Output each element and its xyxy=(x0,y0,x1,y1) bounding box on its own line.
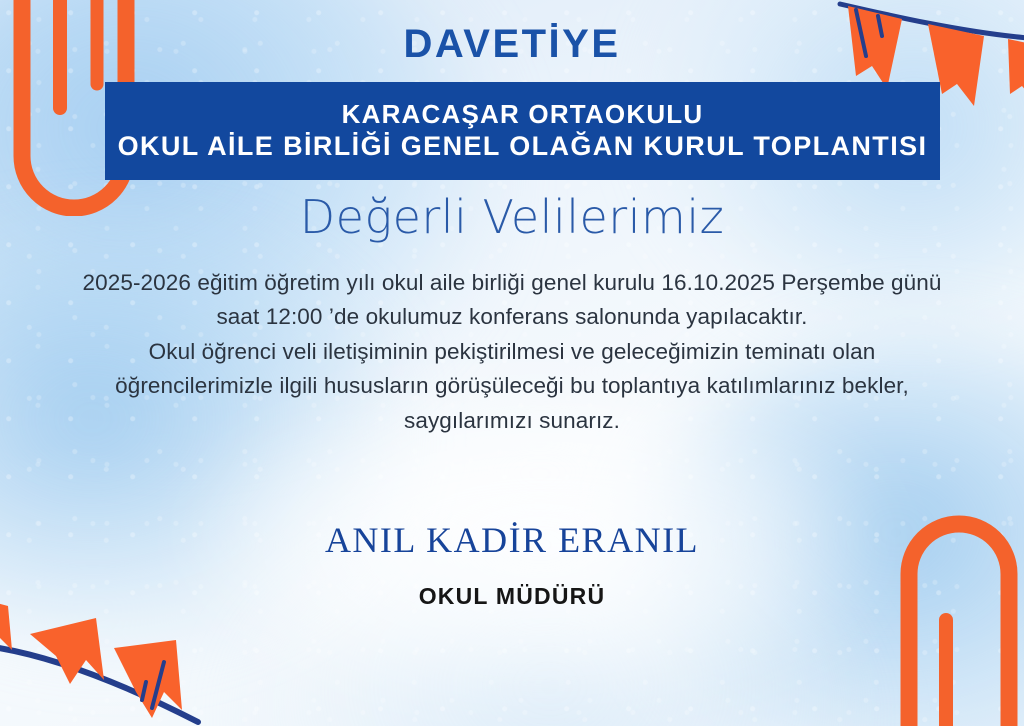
signature-name: ANIL KADİR ERANIL xyxy=(0,519,1024,561)
greeting-text: Değerli Velilerimiz xyxy=(0,190,1024,244)
body-line-3: Okul öğrenci veli iletişiminin pekiştiri… xyxy=(52,335,972,369)
header-banner: KARACAŞAR ORTAOKULU OKUL AİLE BİRLİĞİ GE… xyxy=(105,82,940,180)
body-text: 2025-2026 eğitim öğretim yılı okul aile … xyxy=(52,266,972,438)
signature-role: OKUL MÜDÜRÜ xyxy=(0,583,1024,610)
body-line-4: öğrencilerimizle ilgili hususların görüş… xyxy=(52,369,972,403)
banner-meeting-title: OKUL AİLE BİRLİĞİ GENEL OLAĞAN KURUL TOP… xyxy=(118,131,928,162)
body-line-1: 2025-2026 eğitim öğretim yılı okul aile … xyxy=(52,266,972,300)
banner-school-name: KARACAŞAR ORTAOKULU xyxy=(342,99,704,129)
invitation-card: DAVETİYE KARACAŞAR ORTAOKULU OKUL AİLE B… xyxy=(0,0,1024,726)
body-line-2: saat 12:00 ’de okulumuz konferans salonu… xyxy=(52,300,972,334)
page-title: DAVETİYE xyxy=(0,22,1024,67)
body-line-5: saygılarımızı sunarız. xyxy=(52,404,972,438)
